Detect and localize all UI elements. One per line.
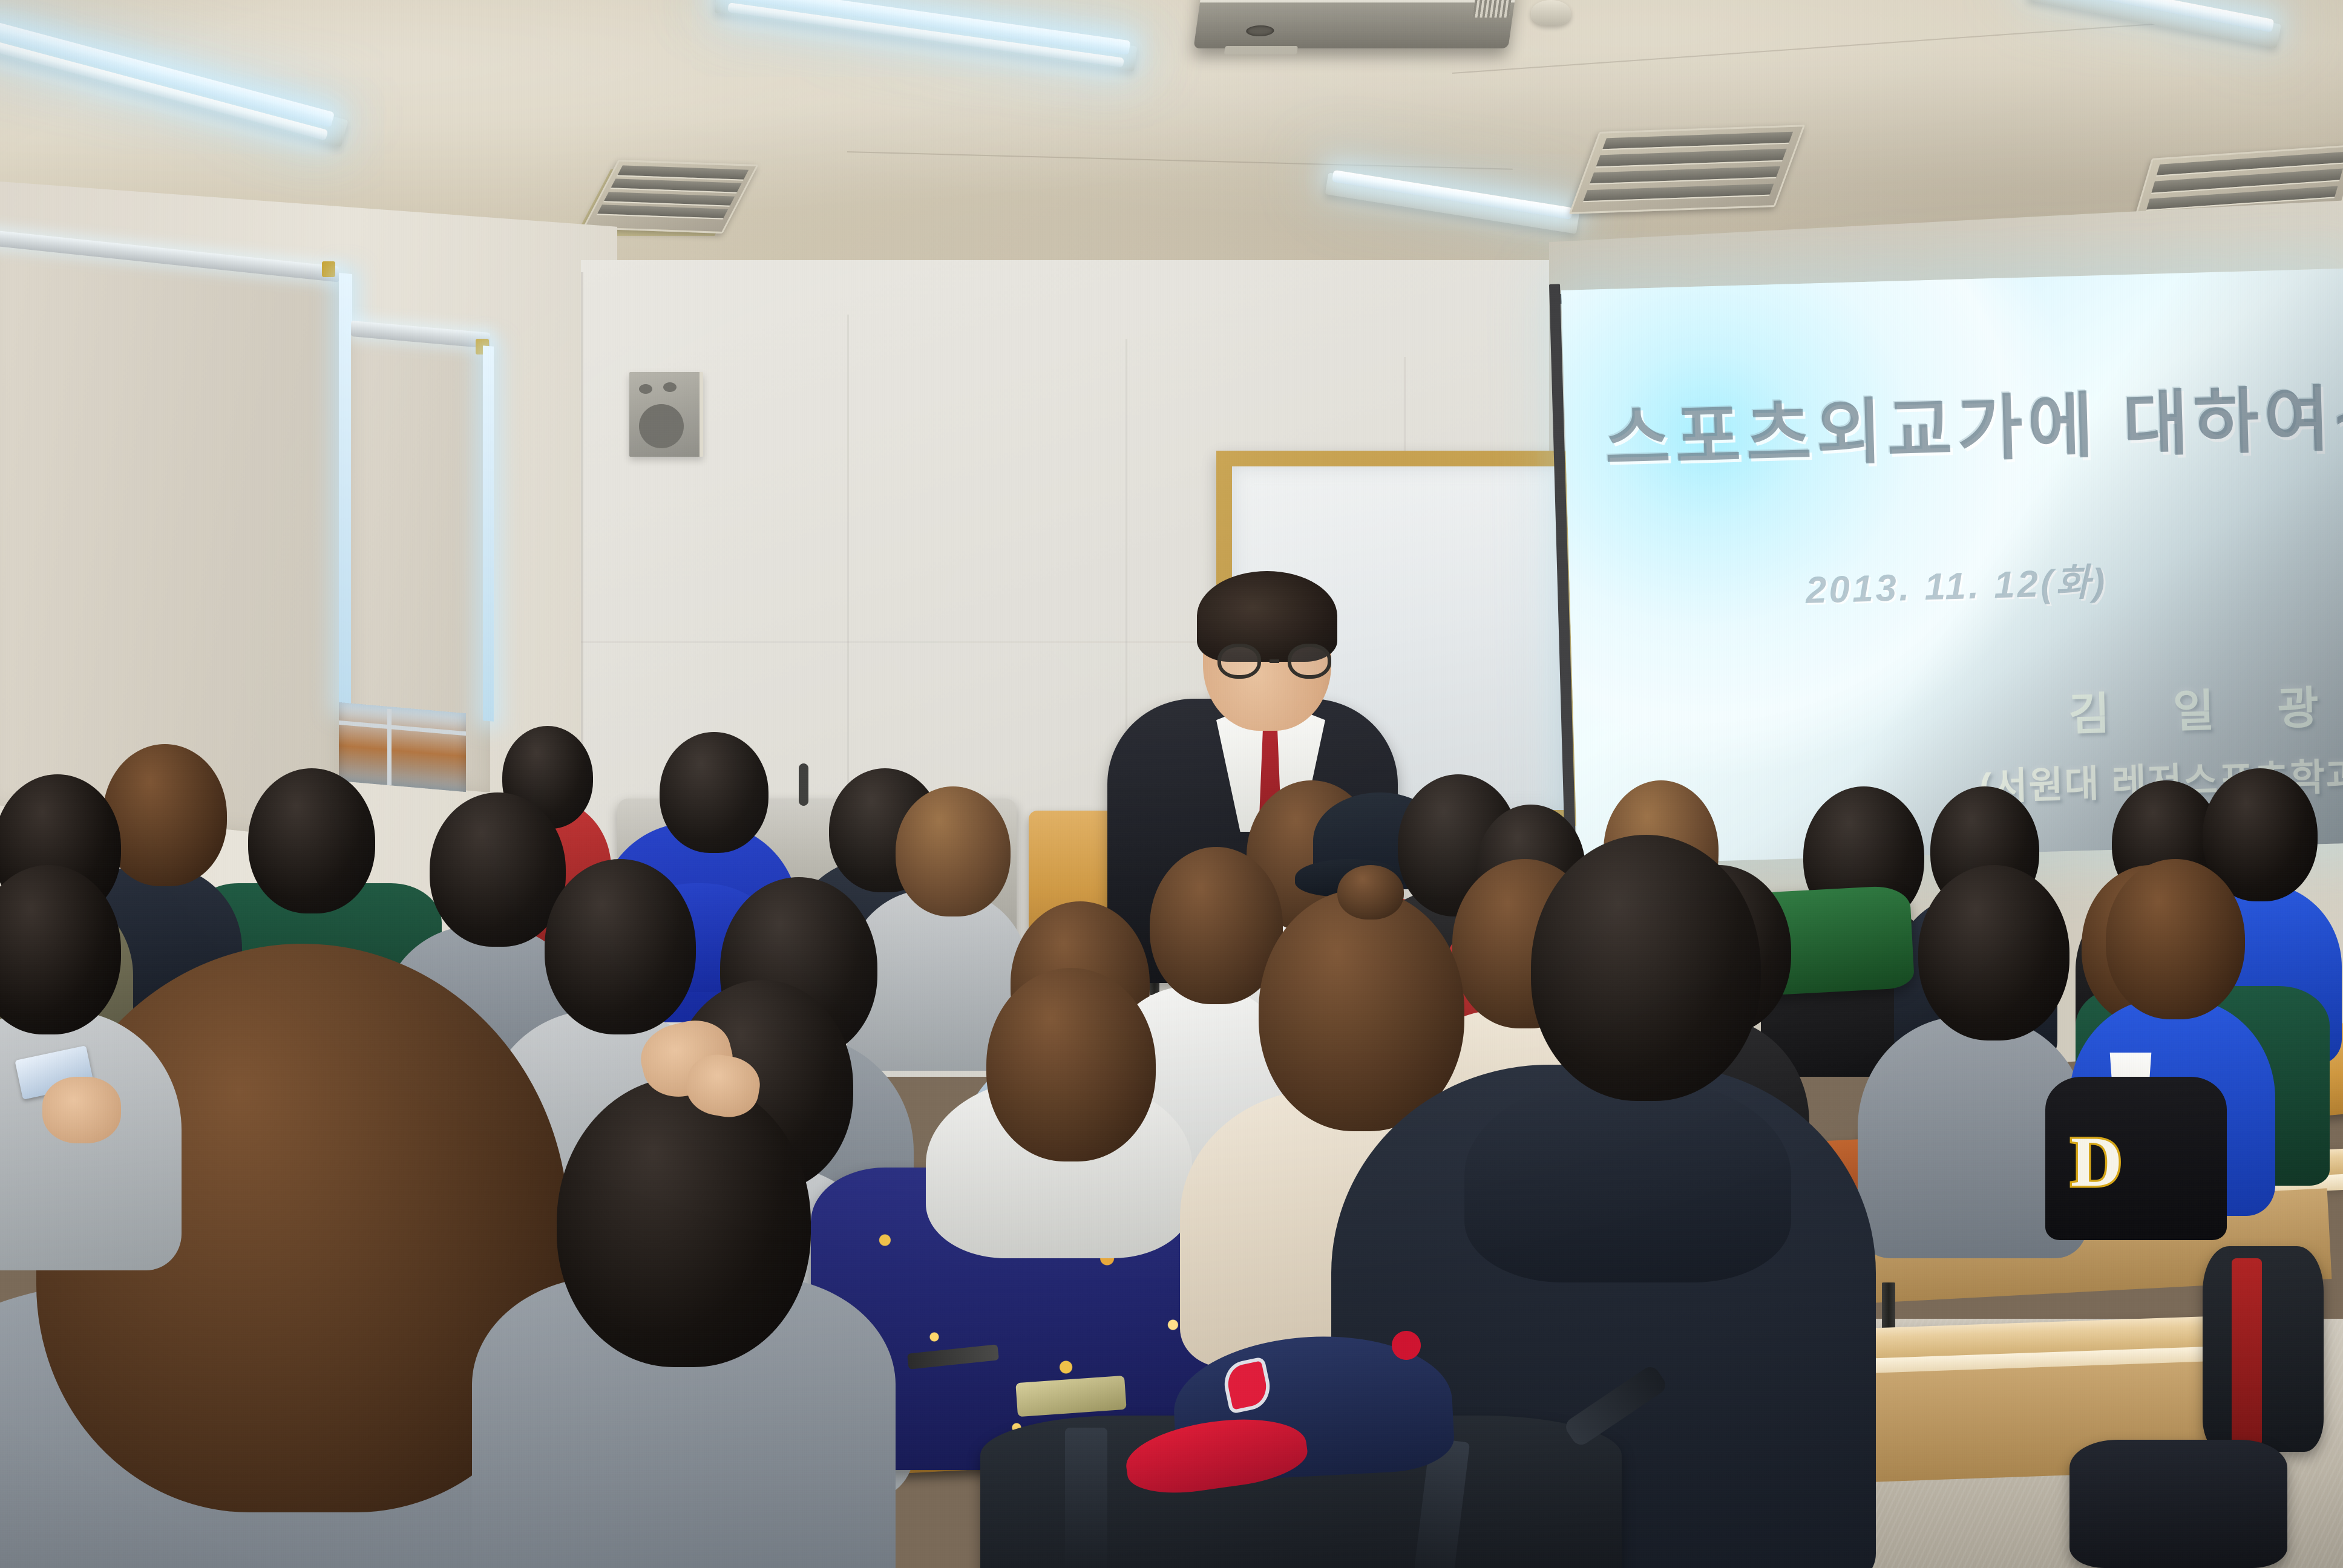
person-head: [2106, 859, 2245, 1019]
person-head: [1259, 889, 1464, 1131]
hand: [42, 1077, 121, 1143]
window-light-gap: [483, 345, 494, 722]
wall-seam: [847, 315, 849, 859]
window-light-gap: [339, 273, 352, 710]
roller-blind-end-cap: [322, 261, 335, 277]
backpack-strap: [2232, 1258, 2262, 1446]
person-head: [896, 786, 1011, 916]
lecture-hall-photo: 스포츠외교가에 대하여~~~ 2013. 11. 12(화) 김 일 광 (서원…: [0, 0, 2343, 1568]
cap-button: [1392, 1331, 1421, 1360]
speaker-tweeter: [663, 382, 677, 392]
person-head: [1531, 835, 1761, 1101]
wall-speaker: [629, 372, 703, 457]
person-head: [248, 768, 375, 913]
window-view: [339, 702, 466, 792]
speaker-tweeter: [639, 384, 652, 394]
projector-mount-foot: [1224, 46, 1298, 54]
projector-vent-grille: [1472, 0, 1513, 18]
varsity-jacket-dark: D: [2045, 1077, 2227, 1240]
person-head: [103, 744, 227, 886]
window-mullion: [387, 709, 392, 786]
projector-lens: [1245, 25, 1275, 36]
person-head: [660, 732, 768, 853]
puffer-hood: [1464, 1077, 1791, 1282]
ceiling-air-vent: [1569, 125, 1806, 214]
varsity-letter: D: [2071, 1126, 2125, 1198]
eyeglasses-icon: [1217, 644, 1331, 679]
microphone: [799, 763, 808, 806]
person-head: [557, 1077, 811, 1367]
projection-screen: 스포츠외교가에 대하여~~~ 2013. 11. 12(화) 김 일 광 (서원…: [1561, 269, 2343, 865]
person-head: [430, 792, 566, 947]
backpack: [2203, 1246, 2324, 1452]
smoke-detector: [1531, 0, 1571, 25]
person-head: [986, 968, 1156, 1161]
speaker-driver: [639, 404, 684, 448]
person-head: [545, 859, 696, 1034]
hair-tie-bun: [1337, 865, 1404, 920]
bag: [2069, 1440, 2287, 1568]
backpack-strap: [1065, 1428, 1107, 1568]
screen-shadow-overlay: [1561, 269, 2343, 865]
person-head: [1918, 865, 2069, 1040]
ceiling-projector: [1193, 0, 1517, 48]
